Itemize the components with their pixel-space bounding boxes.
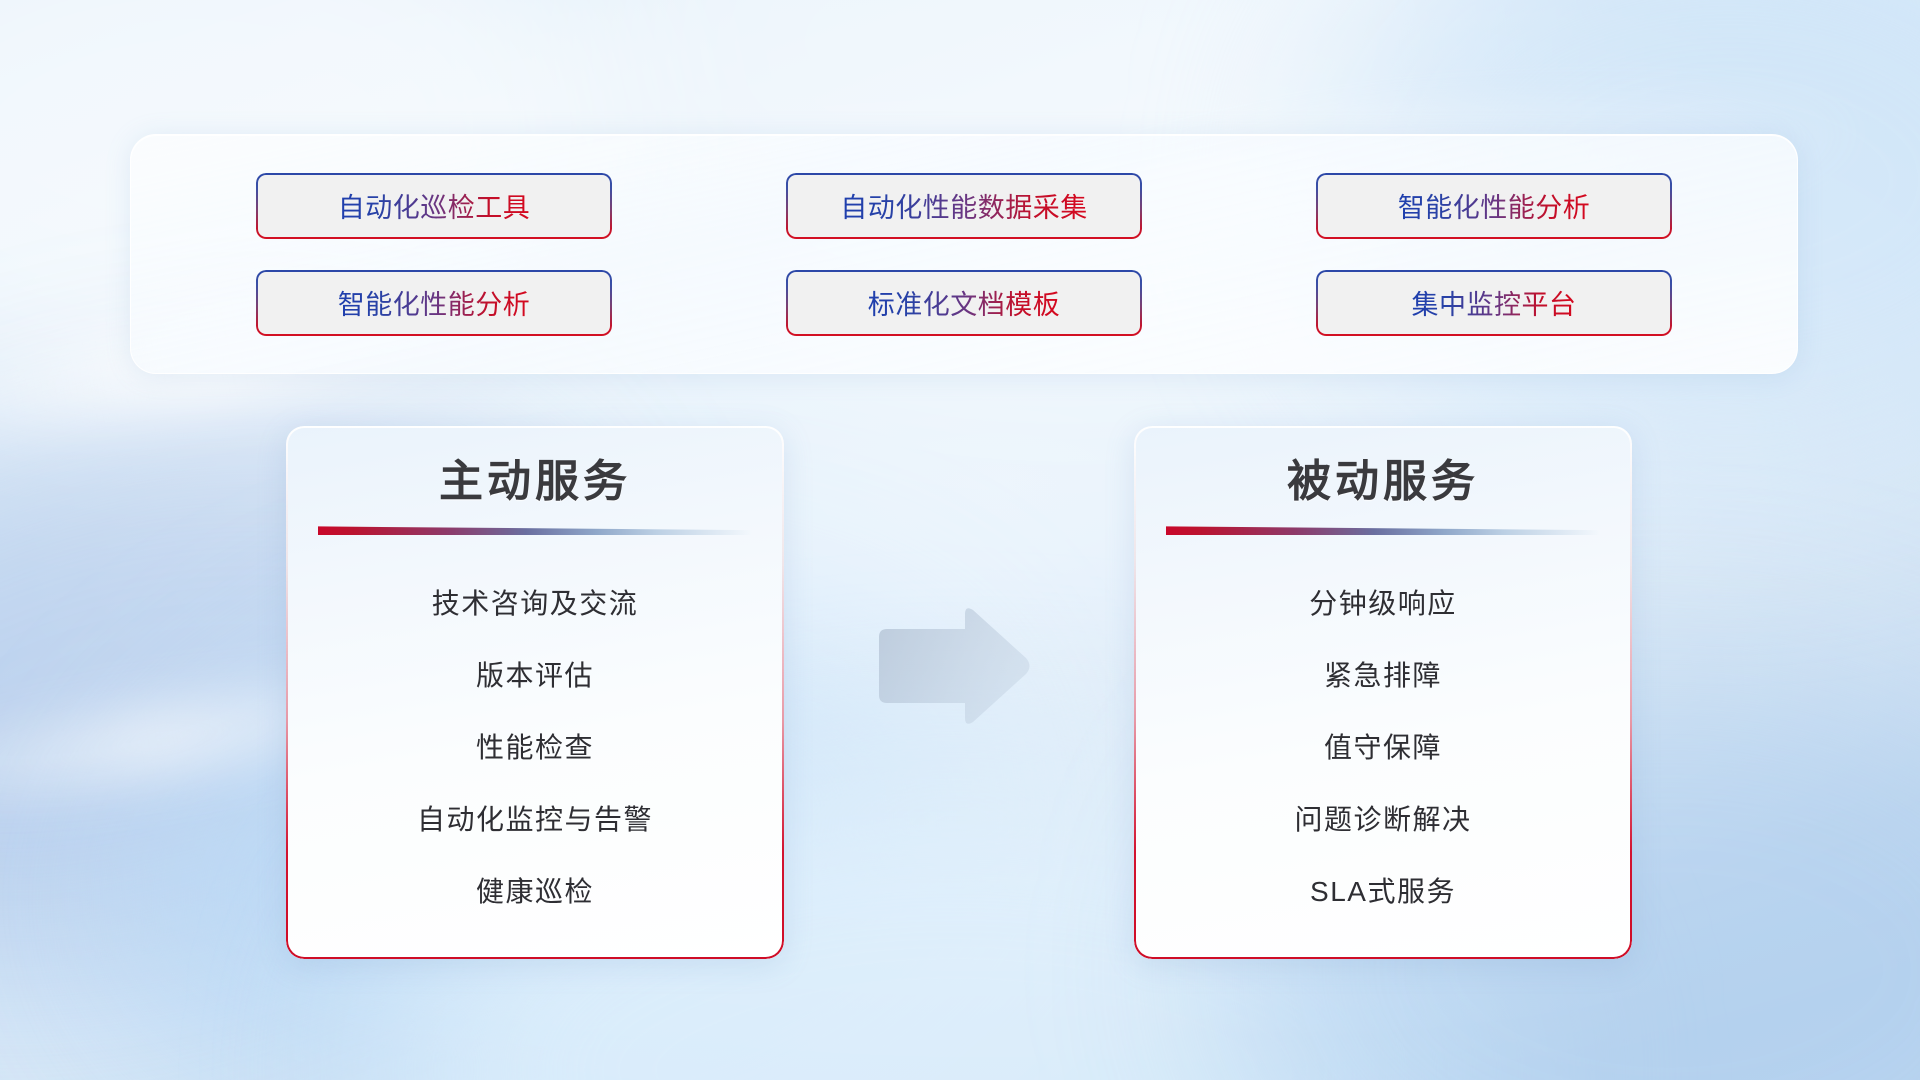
list-item: 技术咨询及交流: [432, 566, 639, 638]
list-item: 自动化监控与告警: [417, 782, 653, 854]
capability-chip-intelligent-performance-analysis-1[interactable]: 智能化性能分析: [1316, 173, 1672, 239]
capability-chip-automated-performance-data-collection[interactable]: 自动化性能数据采集: [786, 173, 1142, 239]
capability-chip-standardized-document-template[interactable]: 标准化文档模板: [786, 270, 1142, 336]
service-item-list: 技术咨询及交流 版本评估 性能检查 自动化监控与告警 健康巡检: [286, 566, 784, 926]
title-divider-bar: [1166, 526, 1600, 535]
list-item: 性能检查: [476, 710, 594, 782]
title-divider: [318, 526, 752, 536]
service-item-list: 分钟级响应 紧急排障 值守保障 问题诊断解决 SLA式服务: [1134, 566, 1632, 926]
capability-chip-label: 自动化巡检工具: [338, 186, 531, 225]
capability-chip-label: 智能化性能分析: [338, 283, 531, 322]
service-card-passive: 被动服务 分钟级响应 紧急排障 值守保障 问题诊断解决 SLA式服务: [1134, 426, 1632, 959]
capability-chip-label: 集中监控平台: [1412, 283, 1577, 322]
list-item: 值守保障: [1324, 710, 1442, 782]
title-divider: [1166, 526, 1600, 536]
list-item: 健康巡检: [476, 854, 594, 926]
capability-chip-automated-inspection-tool[interactable]: 自动化巡检工具: [256, 173, 612, 239]
service-card-title: 主动服务: [439, 458, 631, 506]
capabilities-panel: 自动化巡检工具 自动化性能数据采集 智能化性能分析 智能化性能分析 标准化文档模…: [130, 134, 1798, 374]
list-item: 问题诊断解决: [1294, 782, 1471, 854]
capability-chip-label: 智能化性能分析: [1398, 186, 1591, 225]
capability-chip-intelligent-performance-analysis-2[interactable]: 智能化性能分析: [256, 270, 612, 336]
service-card-title: 被动服务: [1287, 458, 1479, 506]
capability-chip-centralized-monitoring-platform[interactable]: 集中监控平台: [1316, 270, 1672, 336]
flow-arrow-right-icon: [873, 605, 1033, 727]
list-item: 分钟级响应: [1309, 566, 1457, 638]
list-item: 紧急排障: [1324, 638, 1442, 710]
capability-chip-label: 标准化文档模板: [868, 283, 1061, 322]
list-item: 版本评估: [476, 638, 594, 710]
title-divider-bar: [318, 526, 752, 535]
service-card-active: 主动服务 技术咨询及交流 版本评估 性能检查 自动化监控与告警 健康巡检: [286, 426, 784, 959]
list-item: SLA式服务: [1310, 854, 1456, 926]
capability-chip-label: 自动化性能数据采集: [840, 186, 1088, 225]
